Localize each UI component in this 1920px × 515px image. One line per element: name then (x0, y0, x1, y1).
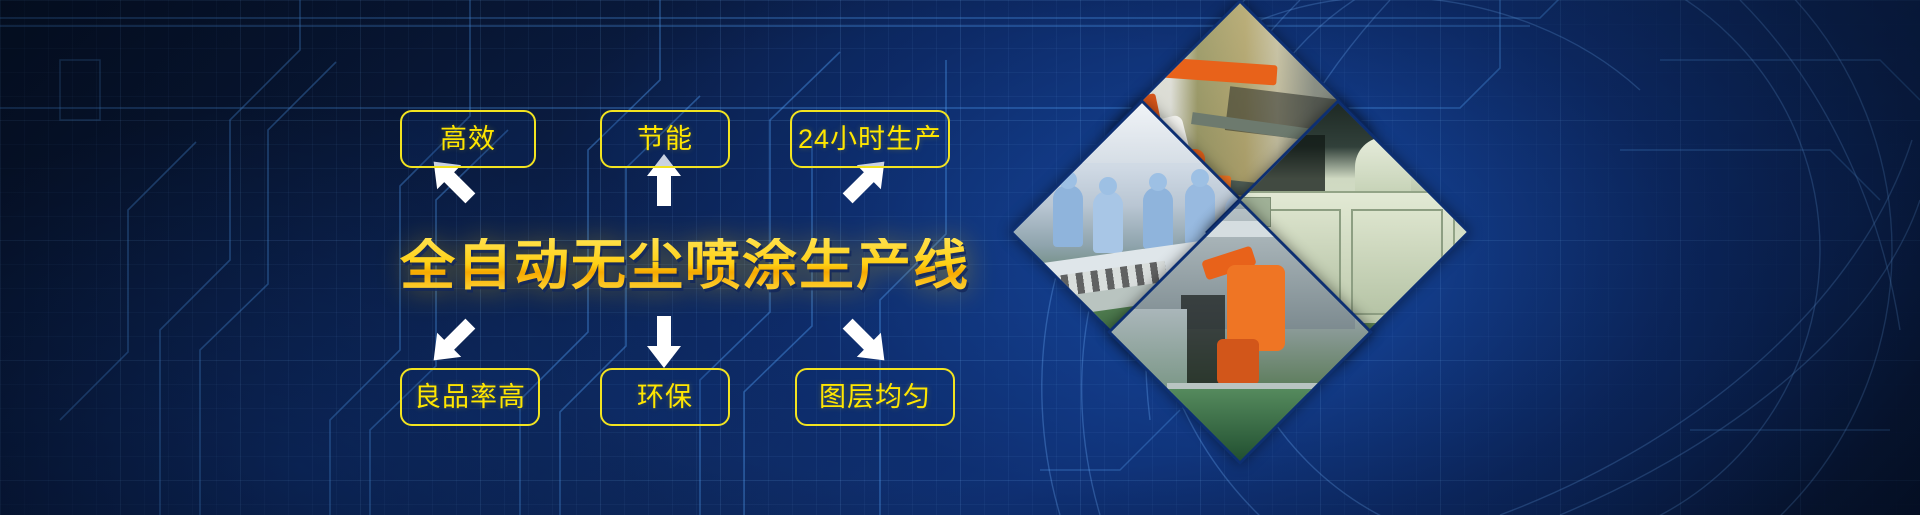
arrow-down (647, 316, 681, 368)
badge-24h-production[interactable]: 24小时生产 (790, 110, 950, 168)
badge-environmental[interactable]: 环保 (600, 368, 730, 426)
badge-high-yield-rate[interactable]: 良品率高 (400, 368, 540, 426)
photo-collage (1040, 38, 1440, 438)
banner-title: 全自动无尘喷涂生产线 (400, 238, 970, 293)
badge-high-efficiency[interactable]: 高效 (400, 110, 536, 168)
badge-uniform-coating[interactable]: 图层均匀 (795, 368, 955, 426)
arrow-down-right (836, 312, 897, 373)
product-banner: 高效 节能 24小时生产 全自动无尘喷涂生产线 良品率高 环保 图层均匀 (0, 0, 1920, 515)
arrow-down-left (422, 312, 483, 373)
badge-energy-saving[interactable]: 节能 (600, 110, 730, 168)
content-area: 高效 节能 24小时生产 全自动无尘喷涂生产线 良品率高 环保 图层均匀 (0, 0, 1040, 515)
